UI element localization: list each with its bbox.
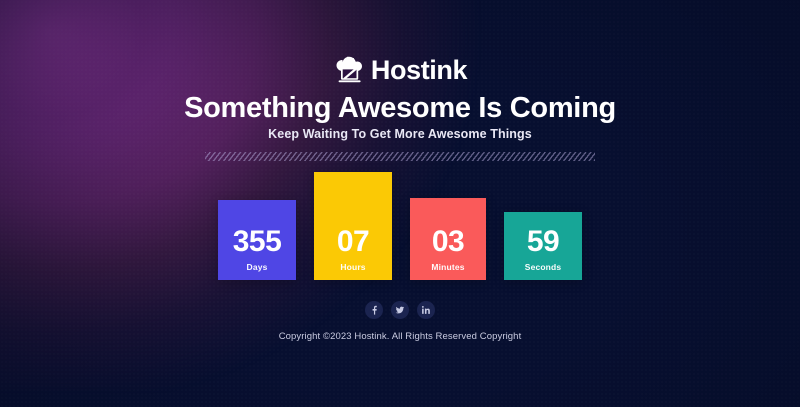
- countdown-label-days: Days: [247, 263, 268, 272]
- twitter-icon: [395, 305, 405, 315]
- linkedin-icon: [421, 305, 431, 315]
- countdown-label-seconds: Seconds: [525, 263, 561, 272]
- facebook-icon: [369, 305, 379, 315]
- social-link-facebook[interactable]: [365, 301, 383, 319]
- page-content: Hostink Something Awesome Is Coming Keep…: [0, 0, 800, 407]
- page-title: Something Awesome Is Coming: [0, 90, 800, 126]
- countdown-value-minutes: 03: [432, 227, 464, 257]
- countdown-label-hours: Hours: [340, 263, 365, 272]
- countdown-value-seconds: 59: [527, 227, 559, 257]
- brand-logo[interactable]: Hostink: [0, 53, 800, 87]
- coming-soon-page: Hostink Something Awesome Is Coming Keep…: [0, 0, 800, 407]
- countdown-box-hours: 07 Hours: [314, 172, 392, 280]
- countdown-box-seconds: 59 Seconds: [504, 212, 582, 280]
- countdown-box-minutes: 03 Minutes: [410, 198, 486, 280]
- page-subtitle: Keep Waiting To Get More Awesome Things: [0, 127, 800, 142]
- hatched-divider: [205, 152, 595, 161]
- countdown-timer: 355 Days 07 Hours 03 Minutes 59 Seconds: [0, 168, 800, 280]
- countdown-label-minutes: Minutes: [431, 263, 464, 272]
- social-link-linkedin[interactable]: [417, 301, 435, 319]
- copyright-text: Copyright ©2023 Hostink. All Rights Rese…: [0, 331, 800, 342]
- cloud-server-logo-icon: [333, 55, 367, 85]
- social-link-twitter[interactable]: [391, 301, 409, 319]
- countdown-value-hours: 07: [337, 227, 369, 257]
- countdown-value-days: 355: [233, 227, 282, 257]
- countdown-box-days: 355 Days: [218, 200, 296, 280]
- brand-name: Hostink: [371, 57, 467, 84]
- social-links: [0, 301, 800, 319]
